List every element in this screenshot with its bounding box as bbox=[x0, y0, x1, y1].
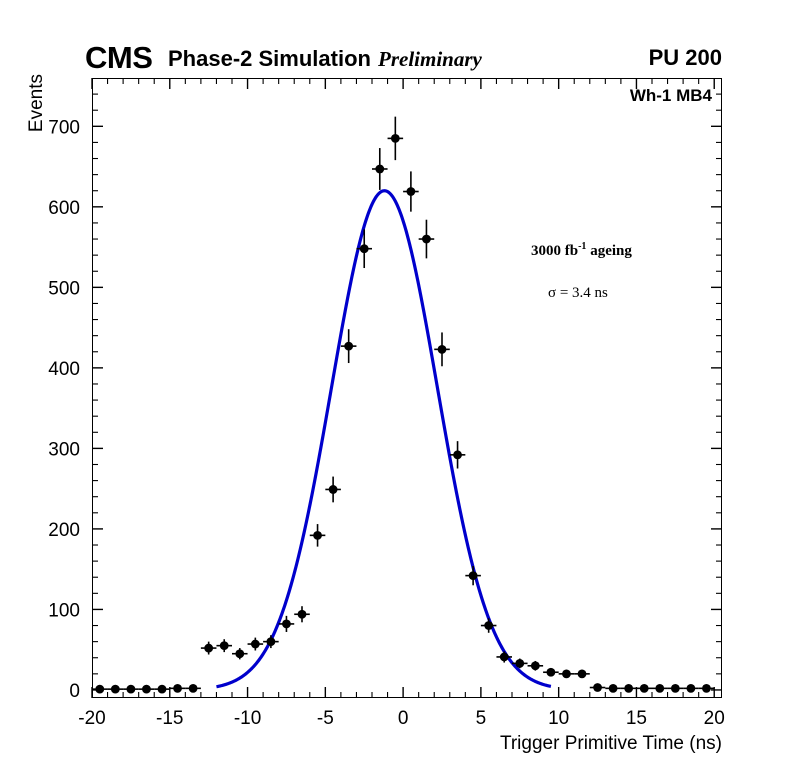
x-tick-label: 10 bbox=[548, 708, 569, 729]
data-point bbox=[108, 685, 124, 694]
y-tick-label: 100 bbox=[48, 600, 80, 621]
data-point bbox=[605, 684, 621, 693]
data-point bbox=[232, 648, 248, 659]
data-point bbox=[434, 332, 450, 366]
data-marker bbox=[344, 342, 353, 351]
data-marker bbox=[189, 684, 198, 693]
data-point bbox=[123, 685, 139, 694]
data-marker bbox=[546, 668, 555, 677]
data-point bbox=[310, 524, 326, 547]
data-marker bbox=[126, 685, 135, 694]
data-marker bbox=[500, 653, 509, 662]
data-marker bbox=[453, 450, 462, 459]
data-marker bbox=[438, 345, 447, 354]
data-marker bbox=[251, 640, 260, 649]
data-point bbox=[325, 477, 341, 503]
data-marker bbox=[158, 685, 167, 694]
y-tick-label: 200 bbox=[48, 520, 80, 541]
plot-canvas: CMS Phase-2 Simulation Preliminary PU 20… bbox=[0, 0, 796, 772]
data-point bbox=[216, 639, 232, 652]
data-marker bbox=[686, 684, 695, 693]
x-tick-label: 20 bbox=[704, 708, 725, 729]
data-marker bbox=[671, 684, 680, 693]
y-tick-label: 600 bbox=[48, 198, 80, 219]
data-marker bbox=[329, 485, 338, 494]
data-point bbox=[356, 229, 372, 268]
y-tick-label: 700 bbox=[48, 117, 80, 138]
chart-plot-area: -20-15-10-505101520010020030040050060070… bbox=[0, 0, 796, 772]
data-marker bbox=[204, 644, 213, 653]
data-marker bbox=[484, 621, 493, 630]
data-point bbox=[574, 669, 590, 678]
data-marker bbox=[375, 165, 384, 174]
data-point bbox=[185, 684, 201, 693]
data-point bbox=[403, 171, 419, 211]
data-marker bbox=[655, 684, 664, 693]
data-point bbox=[621, 684, 637, 693]
data-marker bbox=[95, 685, 104, 694]
data-marker bbox=[142, 685, 151, 694]
data-marker bbox=[391, 134, 400, 143]
data-point bbox=[668, 684, 684, 693]
data-point bbox=[683, 684, 699, 693]
data-point bbox=[294, 606, 310, 622]
data-marker bbox=[531, 661, 540, 670]
data-marker bbox=[593, 683, 602, 692]
x-tick-label: 0 bbox=[398, 708, 409, 729]
data-point bbox=[201, 642, 217, 655]
data-point bbox=[92, 685, 108, 694]
data-point bbox=[372, 148, 388, 190]
data-marker bbox=[298, 610, 307, 619]
data-point bbox=[543, 668, 559, 677]
data-point bbox=[559, 669, 575, 678]
data-marker bbox=[515, 659, 524, 668]
data-marker bbox=[220, 641, 229, 650]
data-marker bbox=[562, 669, 571, 678]
data-marker bbox=[609, 684, 618, 693]
data-marker bbox=[313, 531, 322, 540]
data-point bbox=[154, 685, 170, 694]
y-tick-label: 0 bbox=[69, 681, 80, 702]
data-marker bbox=[422, 235, 431, 244]
data-marker bbox=[406, 187, 415, 196]
x-tick-label: 5 bbox=[476, 708, 487, 729]
data-point bbox=[170, 684, 186, 693]
data-point bbox=[699, 684, 715, 693]
data-marker bbox=[282, 620, 291, 629]
data-point bbox=[139, 685, 155, 694]
data-marker bbox=[640, 684, 649, 693]
x-tick-label: 15 bbox=[626, 708, 647, 729]
data-marker bbox=[624, 684, 633, 693]
x-tick-label: -20 bbox=[78, 708, 105, 729]
data-marker bbox=[266, 637, 275, 646]
data-point bbox=[652, 684, 668, 693]
data-marker bbox=[469, 571, 478, 580]
x-tick-label: -10 bbox=[234, 708, 261, 729]
y-tick-label: 300 bbox=[48, 439, 80, 460]
data-marker bbox=[111, 685, 120, 694]
data-point bbox=[528, 661, 544, 671]
y-tick-label: 500 bbox=[48, 278, 80, 299]
y-tick-label: 400 bbox=[48, 359, 80, 380]
data-point bbox=[248, 638, 264, 651]
data-marker bbox=[173, 684, 182, 693]
data-point bbox=[636, 684, 652, 693]
data-point bbox=[388, 117, 404, 160]
data-point bbox=[419, 220, 435, 259]
data-marker bbox=[235, 649, 244, 658]
data-point bbox=[263, 635, 279, 648]
x-tick-label: -15 bbox=[156, 708, 183, 729]
data-marker bbox=[578, 669, 587, 678]
data-marker bbox=[360, 244, 369, 253]
data-point bbox=[590, 683, 606, 692]
x-tick-label: -5 bbox=[317, 708, 334, 729]
gaussian-fit-curve bbox=[216, 191, 550, 687]
data-point bbox=[341, 329, 357, 363]
data-marker bbox=[702, 684, 711, 693]
